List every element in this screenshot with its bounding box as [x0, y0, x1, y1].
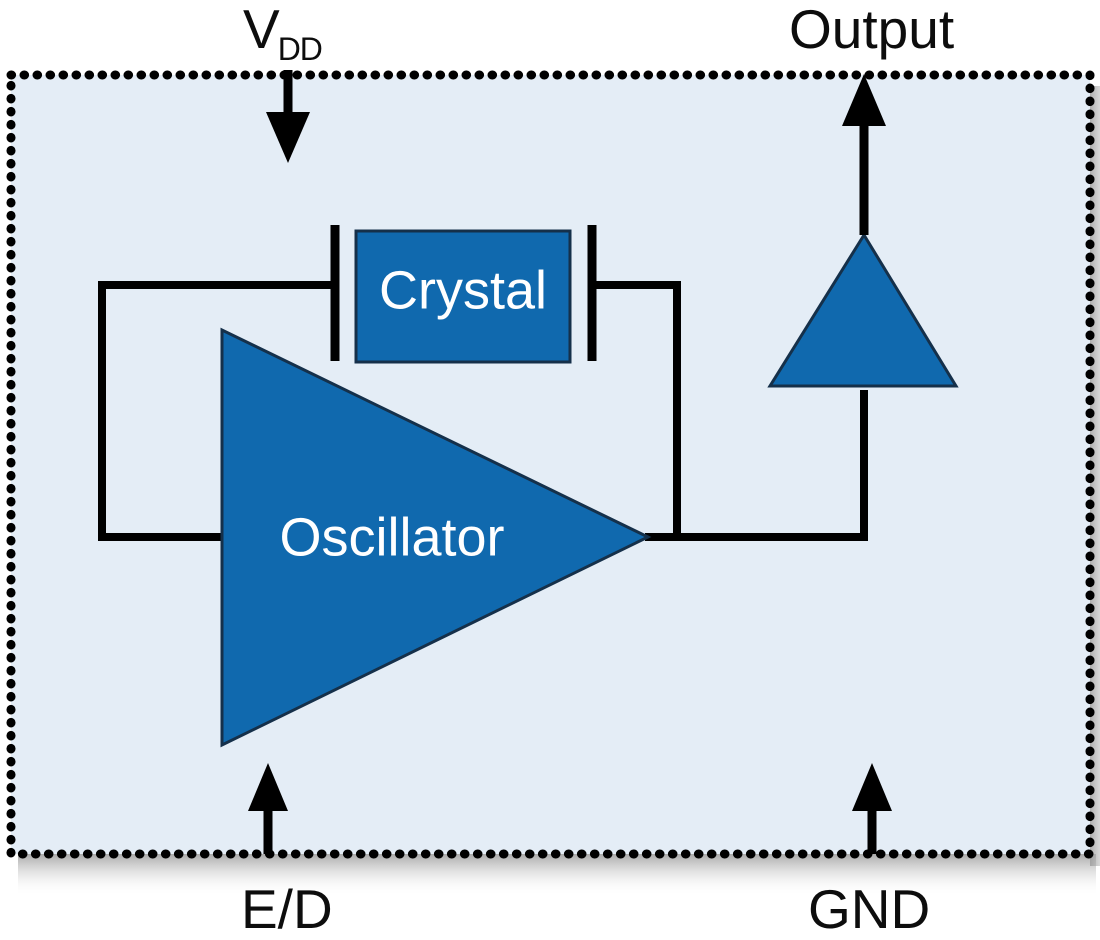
- pin-label-output: Output: [789, 2, 954, 57]
- pin-label-ed: E/D: [241, 882, 333, 937]
- pin-label-gnd: GND: [808, 882, 930, 937]
- diagram-canvas: Crystal Oscillator VDD Outpu: [0, 0, 1100, 935]
- pin-label-vdd-subscript: DD: [278, 31, 322, 67]
- pin-label-vdd: VDD: [243, 2, 324, 57]
- package-shadow-bottom: [18, 854, 1096, 896]
- crystal-block-label: Crystal: [379, 260, 547, 320]
- oscillator-block-diagram: Crystal Oscillator: [0, 0, 1100, 935]
- oscillator-block-label: Oscillator: [279, 507, 504, 567]
- package-body-fill: [11, 75, 1090, 854]
- pin-label-vdd-main: V: [243, 0, 280, 60]
